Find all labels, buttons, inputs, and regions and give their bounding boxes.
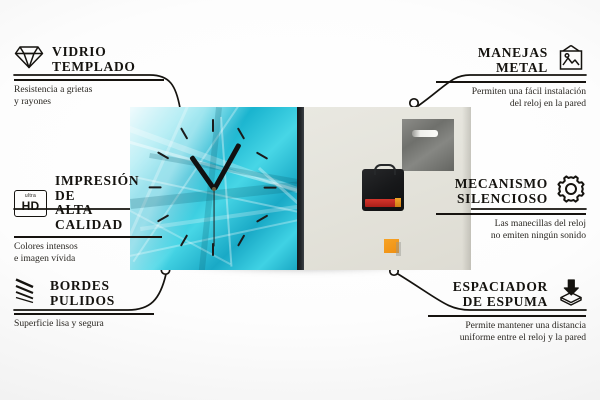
foam-spacer [384, 239, 399, 253]
connector-ring-manejas [410, 99, 418, 107]
feature-bordes-pulidos: BORDES PULIDOS Superficie lisa y segura [14, 278, 154, 330]
clock-movement [362, 169, 404, 211]
feature-description: Permiten una fácil instalación del reloj… [436, 86, 586, 109]
feature-title: MECANISMO SILENCIOSO [455, 177, 548, 206]
feature-mecanismo-silencioso: MECANISMO SILENCIOSO Las manecillas del … [436, 174, 586, 241]
feature-rule [14, 79, 164, 81]
feature-title: VIDRIO TEMPLADO [52, 45, 136, 74]
feature-title: MANEJAS METAL [478, 46, 548, 75]
feature-rule [436, 81, 586, 83]
feature-manejas-metal: MANEJAS METAL Permiten una fácil instala… [436, 44, 586, 109]
hour-mark [256, 151, 268, 159]
hour-mark [264, 186, 277, 188]
feature-vidrio-templado: VIDRIO TEMPLADO Resistencia a grietas y … [14, 44, 164, 107]
feature-description: Permite mantener una distancia uniforme … [428, 320, 586, 343]
feature-title: IMPRESIÓN DE ALTA CALIDAD [55, 174, 162, 232]
battery [365, 199, 397, 207]
hour-mark [256, 214, 268, 222]
feature-title: BORDES PULIDOS [50, 279, 115, 308]
clock-hand-minute [211, 143, 240, 191]
feature-rule [14, 236, 162, 238]
feature-rule [14, 313, 154, 315]
feature-rule [428, 315, 586, 317]
movement-hanger-loop [374, 164, 396, 175]
picture-frame-hanger-icon [556, 44, 586, 77]
hour-mark [237, 127, 245, 139]
product-image [130, 107, 471, 270]
battery-terminal [395, 198, 401, 207]
clock-hand-second [213, 189, 214, 247]
gear-icon [556, 174, 586, 209]
clock-side-edge [297, 107, 304, 270]
feature-rule [436, 213, 586, 215]
diagonal-lines-icon [14, 278, 42, 309]
feature-impresion-alta-calidad: ultra HD IMPRESIÓN DE ALTA CALIDAD Color… [14, 174, 162, 264]
hanger-slot [412, 130, 438, 137]
hour-mark [157, 151, 169, 159]
hour-mark [180, 234, 188, 246]
feature-description: Colores intensos e imagen vívida [14, 241, 162, 264]
ultra-hd-icon: ultra HD [14, 190, 47, 217]
diamond-icon [14, 44, 44, 75]
arrow-onto-pad-icon [556, 278, 586, 311]
metal-hanger-plate [402, 119, 454, 171]
feature-espaciador-espuma: ESPACIADOR DE ESPUMA Permite mantener un… [428, 278, 586, 343]
hour-mark [237, 234, 245, 246]
hour-mark [180, 127, 188, 139]
feature-description: Las manecillas del reloj no emiten ningú… [436, 218, 586, 241]
ultra-hd-large-text: HD [22, 200, 40, 212]
clock-center-cap [212, 187, 216, 191]
feature-description: Superficie lisa y segura [14, 318, 154, 329]
feature-description: Resistencia a grietas y rayones [14, 84, 164, 107]
clock-hand-hour [189, 155, 216, 190]
feature-title: ESPACIADOR DE ESPUMA [453, 280, 548, 309]
hour-mark [212, 119, 214, 132]
infographic-canvas: VIDRIO TEMPLADO Resistencia a grietas y … [0, 0, 600, 400]
